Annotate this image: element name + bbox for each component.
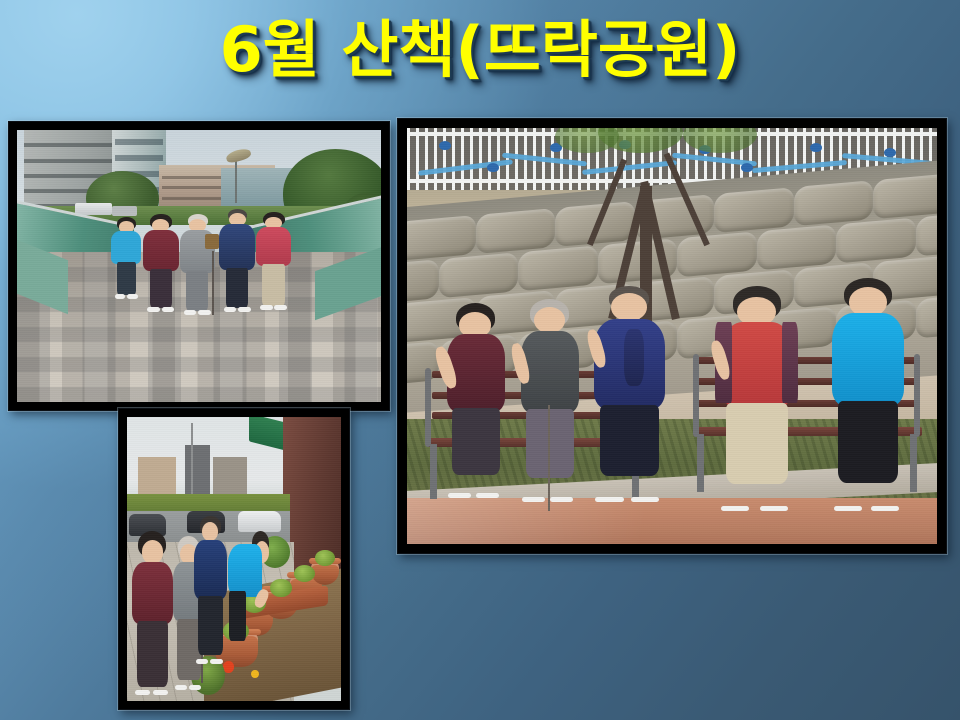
slide-canvas: 6월 산책(뜨락공원) xyxy=(0,0,960,720)
photo-bridge-walk-image xyxy=(17,130,381,402)
page-title: 6월 산책(뜨락공원) xyxy=(0,14,960,85)
photo-planters-image xyxy=(127,417,341,701)
photo-park-bench-image xyxy=(407,128,937,544)
photo-park-bench[interactable] xyxy=(397,118,947,554)
photo-bridge-walk[interactable] xyxy=(8,121,390,411)
photo-planters[interactable] xyxy=(118,408,350,710)
